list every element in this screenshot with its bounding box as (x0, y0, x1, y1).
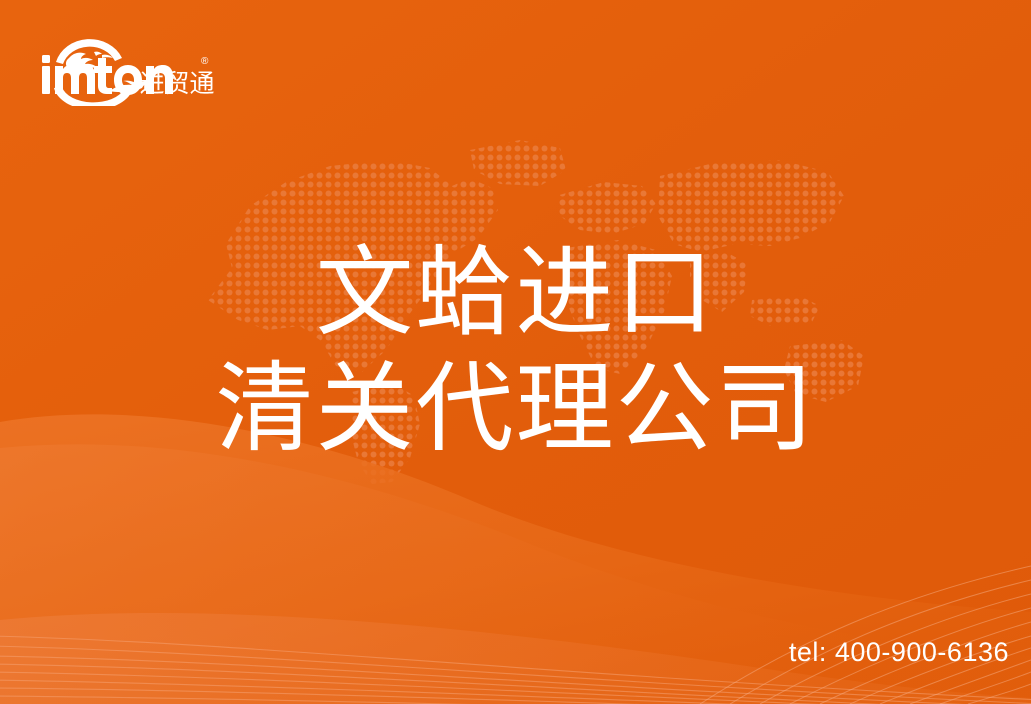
brand-logo[interactable]: 进贸通 ® (36, 28, 216, 106)
registered-trademark-icon: ® (201, 56, 209, 67)
contact-phone[interactable]: tel: 400-900-6136 (789, 637, 1009, 668)
promo-banner: 进贸通 ® 文蛤进口 清关代理公司 tel: 400-900-6136 (0, 0, 1031, 704)
logo-chinese-name: 进贸通 (139, 69, 214, 98)
headline-line-1: 文蛤进口 (0, 236, 1031, 352)
headline-line-2: 清关代理公司 (0, 352, 1031, 468)
headline-block: 文蛤进口 清关代理公司 (0, 236, 1031, 467)
